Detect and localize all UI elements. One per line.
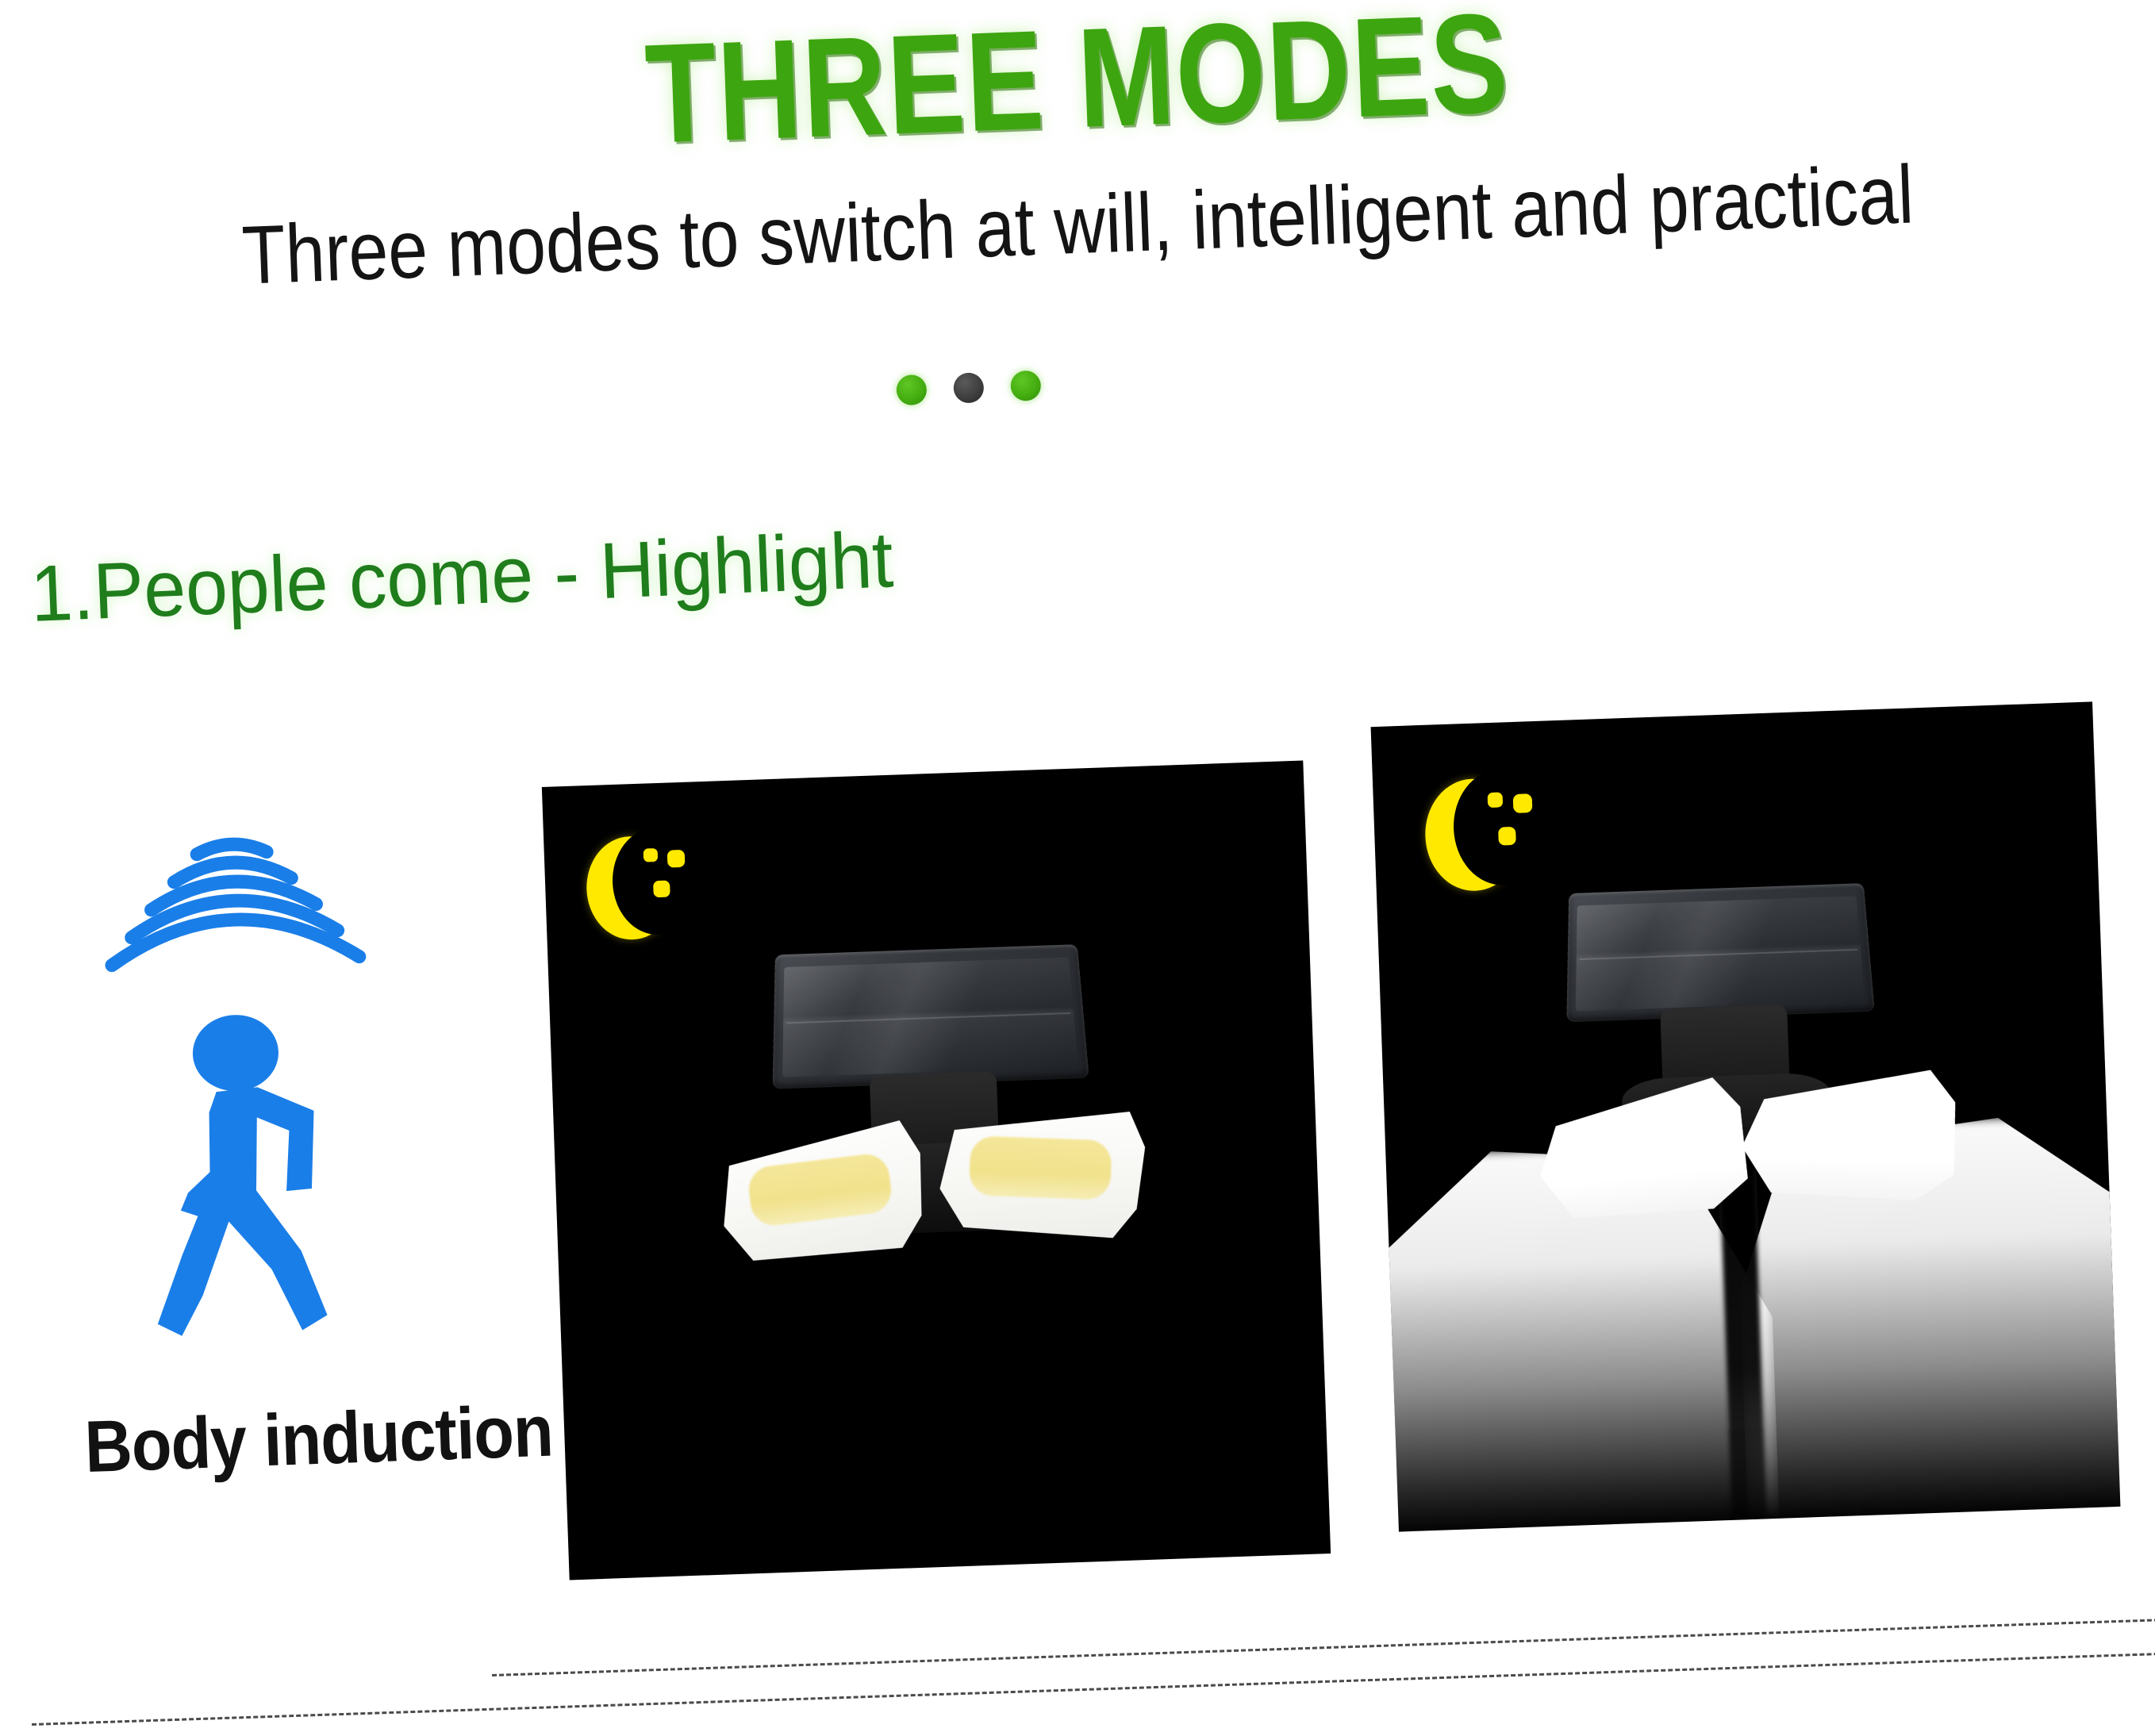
section-heading: 1.People come - Highlight [6,519,917,635]
body-induction-caption-text: Body induction [83,1395,554,1484]
led-cob-panel-left [746,1152,893,1228]
star-icon-3 [653,881,670,897]
body-induction-block: Body induction [31,810,501,1571]
pagination-dots [896,364,1080,418]
star-icon-2 [1513,793,1532,813]
star-icon-3 [1498,827,1516,845]
star-icon-2 [667,849,686,867]
crescent-moon-with-stars-icon [1423,770,1545,901]
walking-person-glyph [147,1012,328,1337]
led-cob-panel-right [969,1136,1112,1200]
section-heading-text: 1.People come - Highlight [29,520,895,634]
product-infographic-page: THREE MODES Three modes to switch at wil… [0,0,2155,1736]
crescent-moon-with-stars-icon [585,828,697,949]
solar-panel [1566,883,1875,1022]
led-head-left [709,1113,932,1273]
page-subtitle-text: Three modes to switch at will, intellige… [240,153,1915,297]
photo-right-canvas [1371,701,2121,1531]
pagination-dot-1[interactable] [896,374,927,405]
sensor-wave-1 [197,843,267,855]
footer-divider-1 [492,1619,2155,1676]
page-title-text: THREE MODES [643,0,1512,165]
photo-lights-warm-off-state [542,761,1331,1580]
solar-panel [773,944,1089,1089]
pagination-dot-3[interactable] [1010,371,1041,401]
photo-lights-highlight-state [1371,701,2121,1531]
body-induction-caption: Body induction [58,1393,580,1484]
footer-divider-2 [32,1652,2155,1726]
motion-sensor-walking-person-icon [48,812,432,1380]
star-icon-1 [1487,792,1503,808]
star-icon-1 [643,848,658,862]
photo-left-canvas [542,761,1331,1580]
pagination-dot-2[interactable] [953,372,984,403]
